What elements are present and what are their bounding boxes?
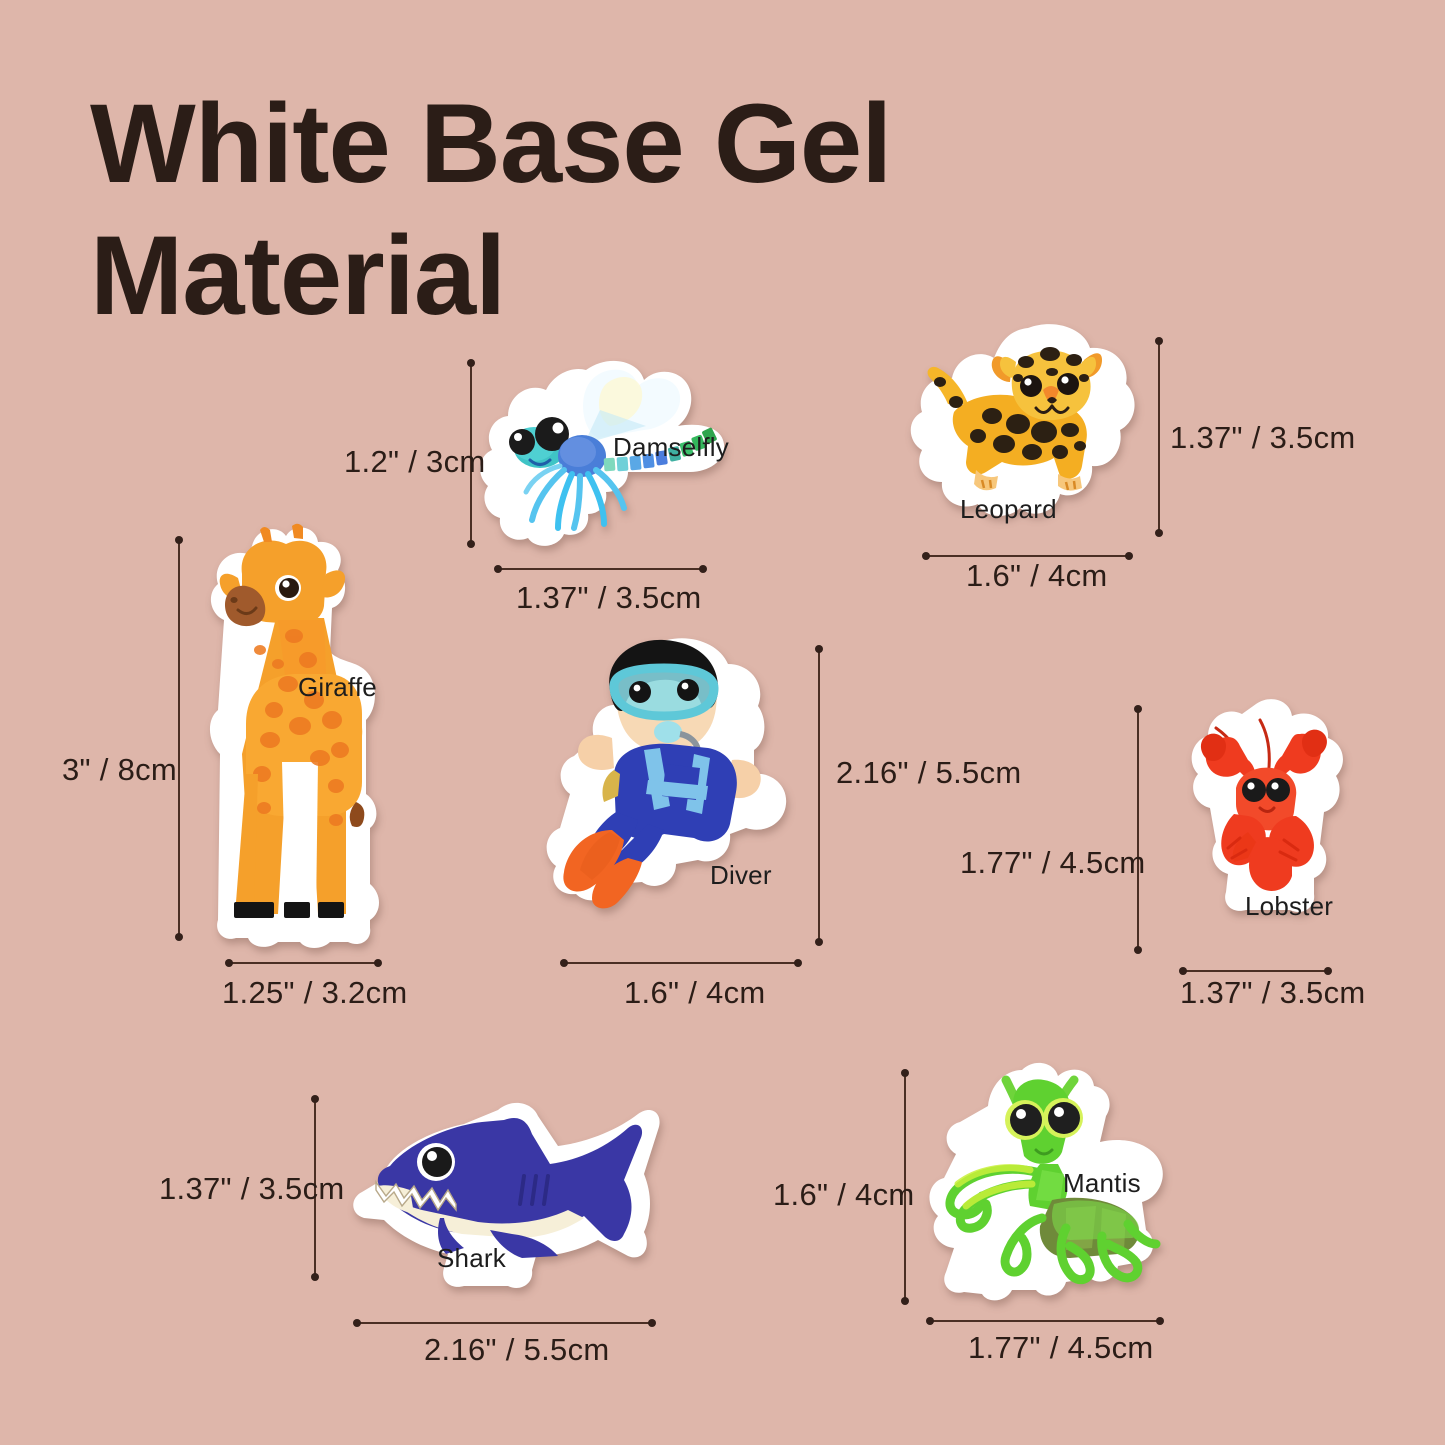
lobster-width-dot-right <box>1324 967 1332 975</box>
mantis-height-dot-top <box>901 1069 909 1077</box>
sticker-label-damselfly: Damselfly <box>613 432 729 463</box>
page-title: White Base Gel Material <box>90 78 1090 342</box>
damselfly-height-dot-bottom <box>467 540 475 548</box>
giraffe-width-label: 1.25" / 3.2cm <box>222 975 408 1011</box>
damselfly-height-dot-top <box>467 359 475 367</box>
mantis-width-label: 1.77" / 4.5cm <box>968 1330 1154 1366</box>
diver-height-label: 2.16" / 5.5cm <box>836 755 1022 791</box>
shark-height-label: 1.37" / 3.5cm <box>159 1171 345 1207</box>
sticker-giraffe[interactable]: Giraffe <box>190 524 400 954</box>
leopard-height-line <box>1158 340 1160 532</box>
diver-height-line <box>818 648 820 941</box>
diver-width-dot-right <box>794 959 802 967</box>
damselfly-width-label: 1.37" / 3.5cm <box>516 580 702 616</box>
sticker-label-giraffe: Giraffe <box>298 672 377 703</box>
leopard-width-dot-left <box>922 552 930 560</box>
shark-illustration <box>352 1098 662 1298</box>
shark-height-dot-top <box>311 1095 319 1103</box>
shark-width-dot-left <box>353 1319 361 1327</box>
damselfly-width-dot-left <box>494 565 502 573</box>
mantis-height-dot-bottom <box>901 1297 909 1305</box>
damselfly-width-line <box>497 568 703 570</box>
damselfly-height-label: 1.2" / 3cm <box>344 444 486 480</box>
diver-height-dot-bottom <box>815 938 823 946</box>
diver-width-line <box>563 962 798 964</box>
sticker-damselfly[interactable]: Damselfly <box>478 352 728 552</box>
leopard-width-line <box>925 555 1129 557</box>
lobster-height-label: 1.77" / 4.5cm <box>960 845 1146 881</box>
shark-width-label: 2.16" / 5.5cm <box>424 1332 610 1368</box>
giraffe-illustration <box>190 524 400 954</box>
diver-width-label: 1.6" / 4cm <box>624 975 766 1011</box>
diver-width-dot-left <box>560 959 568 967</box>
shark-width-line <box>356 1322 652 1324</box>
product-infographic: White Base Gel Material <box>0 0 1445 1445</box>
diver-height-dot-top <box>815 645 823 653</box>
leopard-width-dot-right <box>1125 552 1133 560</box>
giraffe-height-dot-top <box>175 536 183 544</box>
shark-width-dot-right <box>648 1319 656 1327</box>
lobster-height-dot-bottom <box>1134 946 1142 954</box>
sticker-lobster[interactable]: Lobster <box>1180 698 1350 928</box>
lobster-width-line <box>1182 970 1328 972</box>
sticker-label-leopard: Leopard <box>960 494 1057 525</box>
giraffe-width-dot-left <box>225 959 233 967</box>
shark-height-dot-bottom <box>311 1273 319 1281</box>
mantis-width-dot-right <box>1156 1317 1164 1325</box>
lobster-width-dot-left <box>1179 967 1187 975</box>
giraffe-width-line <box>228 962 378 964</box>
damselfly-width-dot-right <box>699 565 707 573</box>
giraffe-height-label: 3" / 8cm <box>62 752 177 788</box>
lobster-width-label: 1.37" / 3.5cm <box>1180 975 1366 1011</box>
mantis-width-line <box>929 1320 1160 1322</box>
mantis-width-dot-left <box>926 1317 934 1325</box>
sticker-label-lobster: Lobster <box>1245 891 1333 922</box>
lobster-height-line <box>1137 708 1139 950</box>
sticker-mantis[interactable]: Mantis <box>920 1058 1170 1318</box>
leopard-height-dot-top <box>1155 337 1163 345</box>
sticker-leopard[interactable]: Leopard <box>908 320 1138 540</box>
leopard-width-label: 1.6" / 4cm <box>966 558 1108 594</box>
giraffe-height-dot-bottom <box>175 933 183 941</box>
giraffe-height-line <box>178 540 180 936</box>
mantis-height-label: 1.6" / 4cm <box>773 1177 915 1213</box>
sticker-label-shark: Shark <box>437 1243 506 1274</box>
sticker-label-diver: Diver <box>710 860 772 891</box>
sticker-label-mantis: Mantis <box>1063 1168 1141 1199</box>
lobster-height-dot-top <box>1134 705 1142 713</box>
leopard-height-dot-bottom <box>1155 529 1163 537</box>
giraffe-width-dot-right <box>374 959 382 967</box>
sticker-shark[interactable]: Shark <box>352 1098 662 1298</box>
sticker-diver[interactable]: Diver <box>548 634 798 924</box>
leopard-height-label: 1.37" / 3.5cm <box>1170 420 1356 456</box>
